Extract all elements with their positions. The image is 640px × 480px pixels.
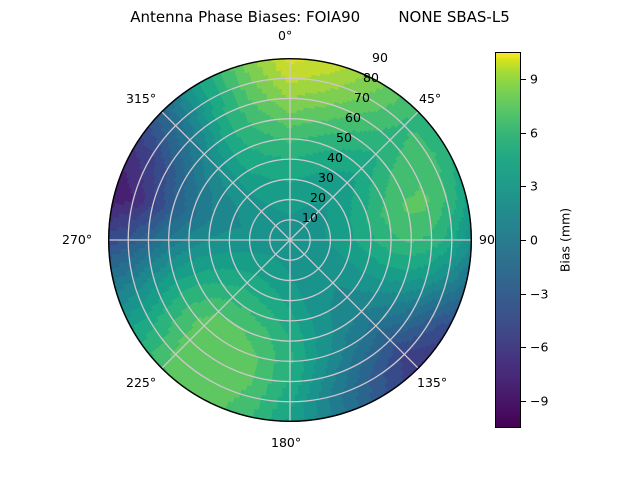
radial-tick-20: 20 bbox=[310, 190, 326, 205]
radial-tick-90: 90 bbox=[372, 50, 388, 65]
colorbar-tick-label: 0 bbox=[530, 233, 538, 248]
radial-tick-60: 60 bbox=[345, 110, 361, 125]
radial-tick-50: 50 bbox=[336, 130, 352, 145]
colorbar-tick-label: −6 bbox=[530, 340, 548, 355]
polar-grid-layer bbox=[108, 58, 472, 422]
colorbar-tick-mark bbox=[521, 79, 526, 80]
colorbar-tick-mark bbox=[521, 347, 526, 348]
polar-axes: 0° 45° 90 135° 180° 225° 270° 315° 10 20… bbox=[108, 58, 472, 422]
colorbar-tick-mark bbox=[521, 401, 526, 402]
colorbar-tick-mark bbox=[521, 294, 526, 295]
angular-tick-90: 90 bbox=[479, 232, 495, 247]
colorbar-tick-label: 9 bbox=[530, 71, 538, 86]
angular-tick-0: 0° bbox=[278, 28, 292, 43]
colorbar-gradient bbox=[495, 52, 521, 428]
angular-tick-315: 315° bbox=[126, 91, 156, 106]
angular-tick-225: 225° bbox=[126, 375, 156, 390]
angular-tick-180: 180° bbox=[271, 435, 301, 450]
figure-canvas: Antenna Phase Biases: FOIA90 NONE SBAS-L… bbox=[0, 0, 640, 480]
angular-tick-270: 270° bbox=[62, 232, 92, 247]
colorbar-label: Bias (mm) bbox=[558, 208, 573, 272]
radial-tick-70: 70 bbox=[354, 90, 370, 105]
radial-tick-10: 10 bbox=[302, 210, 318, 225]
colorbar-tick-label: −3 bbox=[530, 286, 548, 301]
colorbar-tick-mark bbox=[521, 240, 526, 241]
colorbar-tick-mark bbox=[521, 133, 526, 134]
figure-title: Antenna Phase Biases: FOIA90 NONE SBAS-L… bbox=[0, 8, 640, 26]
polar-contour-plot bbox=[108, 58, 472, 422]
colorbar-tick-label: 3 bbox=[530, 179, 538, 194]
colorbar-tick-mark bbox=[521, 186, 526, 187]
colorbar-tick-label: 6 bbox=[530, 125, 538, 140]
angular-tick-135: 135° bbox=[417, 375, 447, 390]
radial-tick-40: 40 bbox=[327, 150, 343, 165]
colorbar: −9−6−30369 Bias (mm) bbox=[495, 52, 615, 430]
radial-tick-80: 80 bbox=[363, 70, 379, 85]
radial-tick-30: 30 bbox=[318, 170, 334, 185]
colorbar-tick-label: −9 bbox=[530, 394, 548, 409]
angular-tick-45: 45° bbox=[419, 91, 441, 106]
